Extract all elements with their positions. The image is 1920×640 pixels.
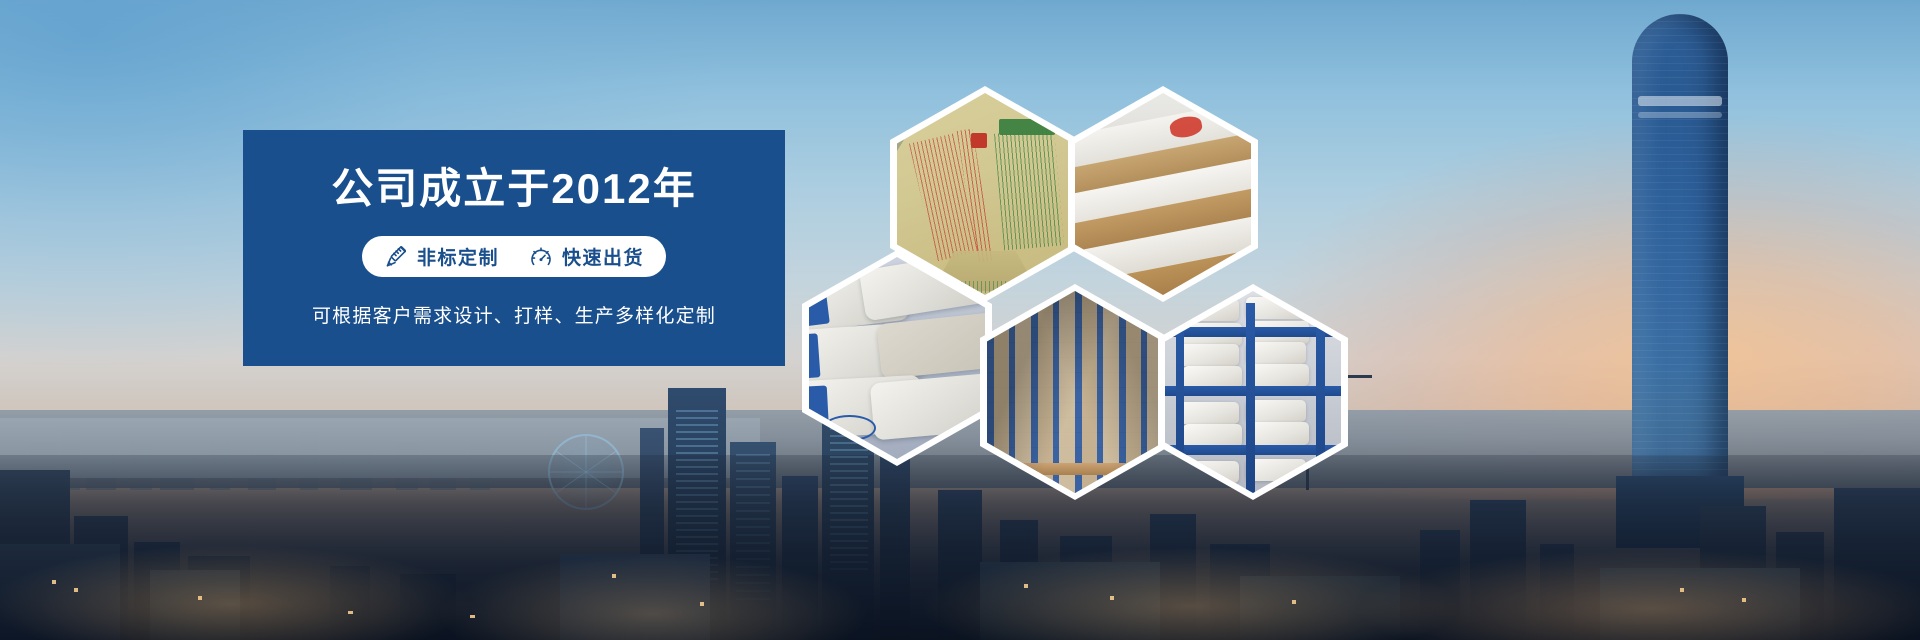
feature-item-custom-label: 非标定制: [417, 243, 499, 270]
feature-badge-group: 非标定制 快速出货: [362, 236, 666, 277]
feature-item-fast-shipping-label: 快速出货: [562, 243, 644, 270]
feature-item-custom[interactable]: 非标定制: [384, 243, 499, 270]
feature-item-fast-shipping[interactable]: 快速出货: [529, 243, 644, 270]
page-title: 公司成立于2012年: [331, 168, 696, 210]
hero-content-panel: 公司成立于2012年 非标定制: [243, 130, 785, 366]
tower-band-lower: [1638, 112, 1722, 118]
page-subtitle: 可根据客户需求设计、打样、生产多样化定制: [312, 301, 716, 328]
speedometer-icon: [529, 245, 553, 269]
street-lights-glow: [0, 520, 1920, 640]
paper-sheet-stack-photo: [1068, 86, 1258, 302]
ruler-pencil-icon: [384, 245, 408, 269]
hexagon-gallery: [790, 86, 1350, 434]
hero-banner: 公司成立于2012年 非标定制: [0, 0, 1920, 640]
tower-band-upper: [1638, 96, 1722, 106]
